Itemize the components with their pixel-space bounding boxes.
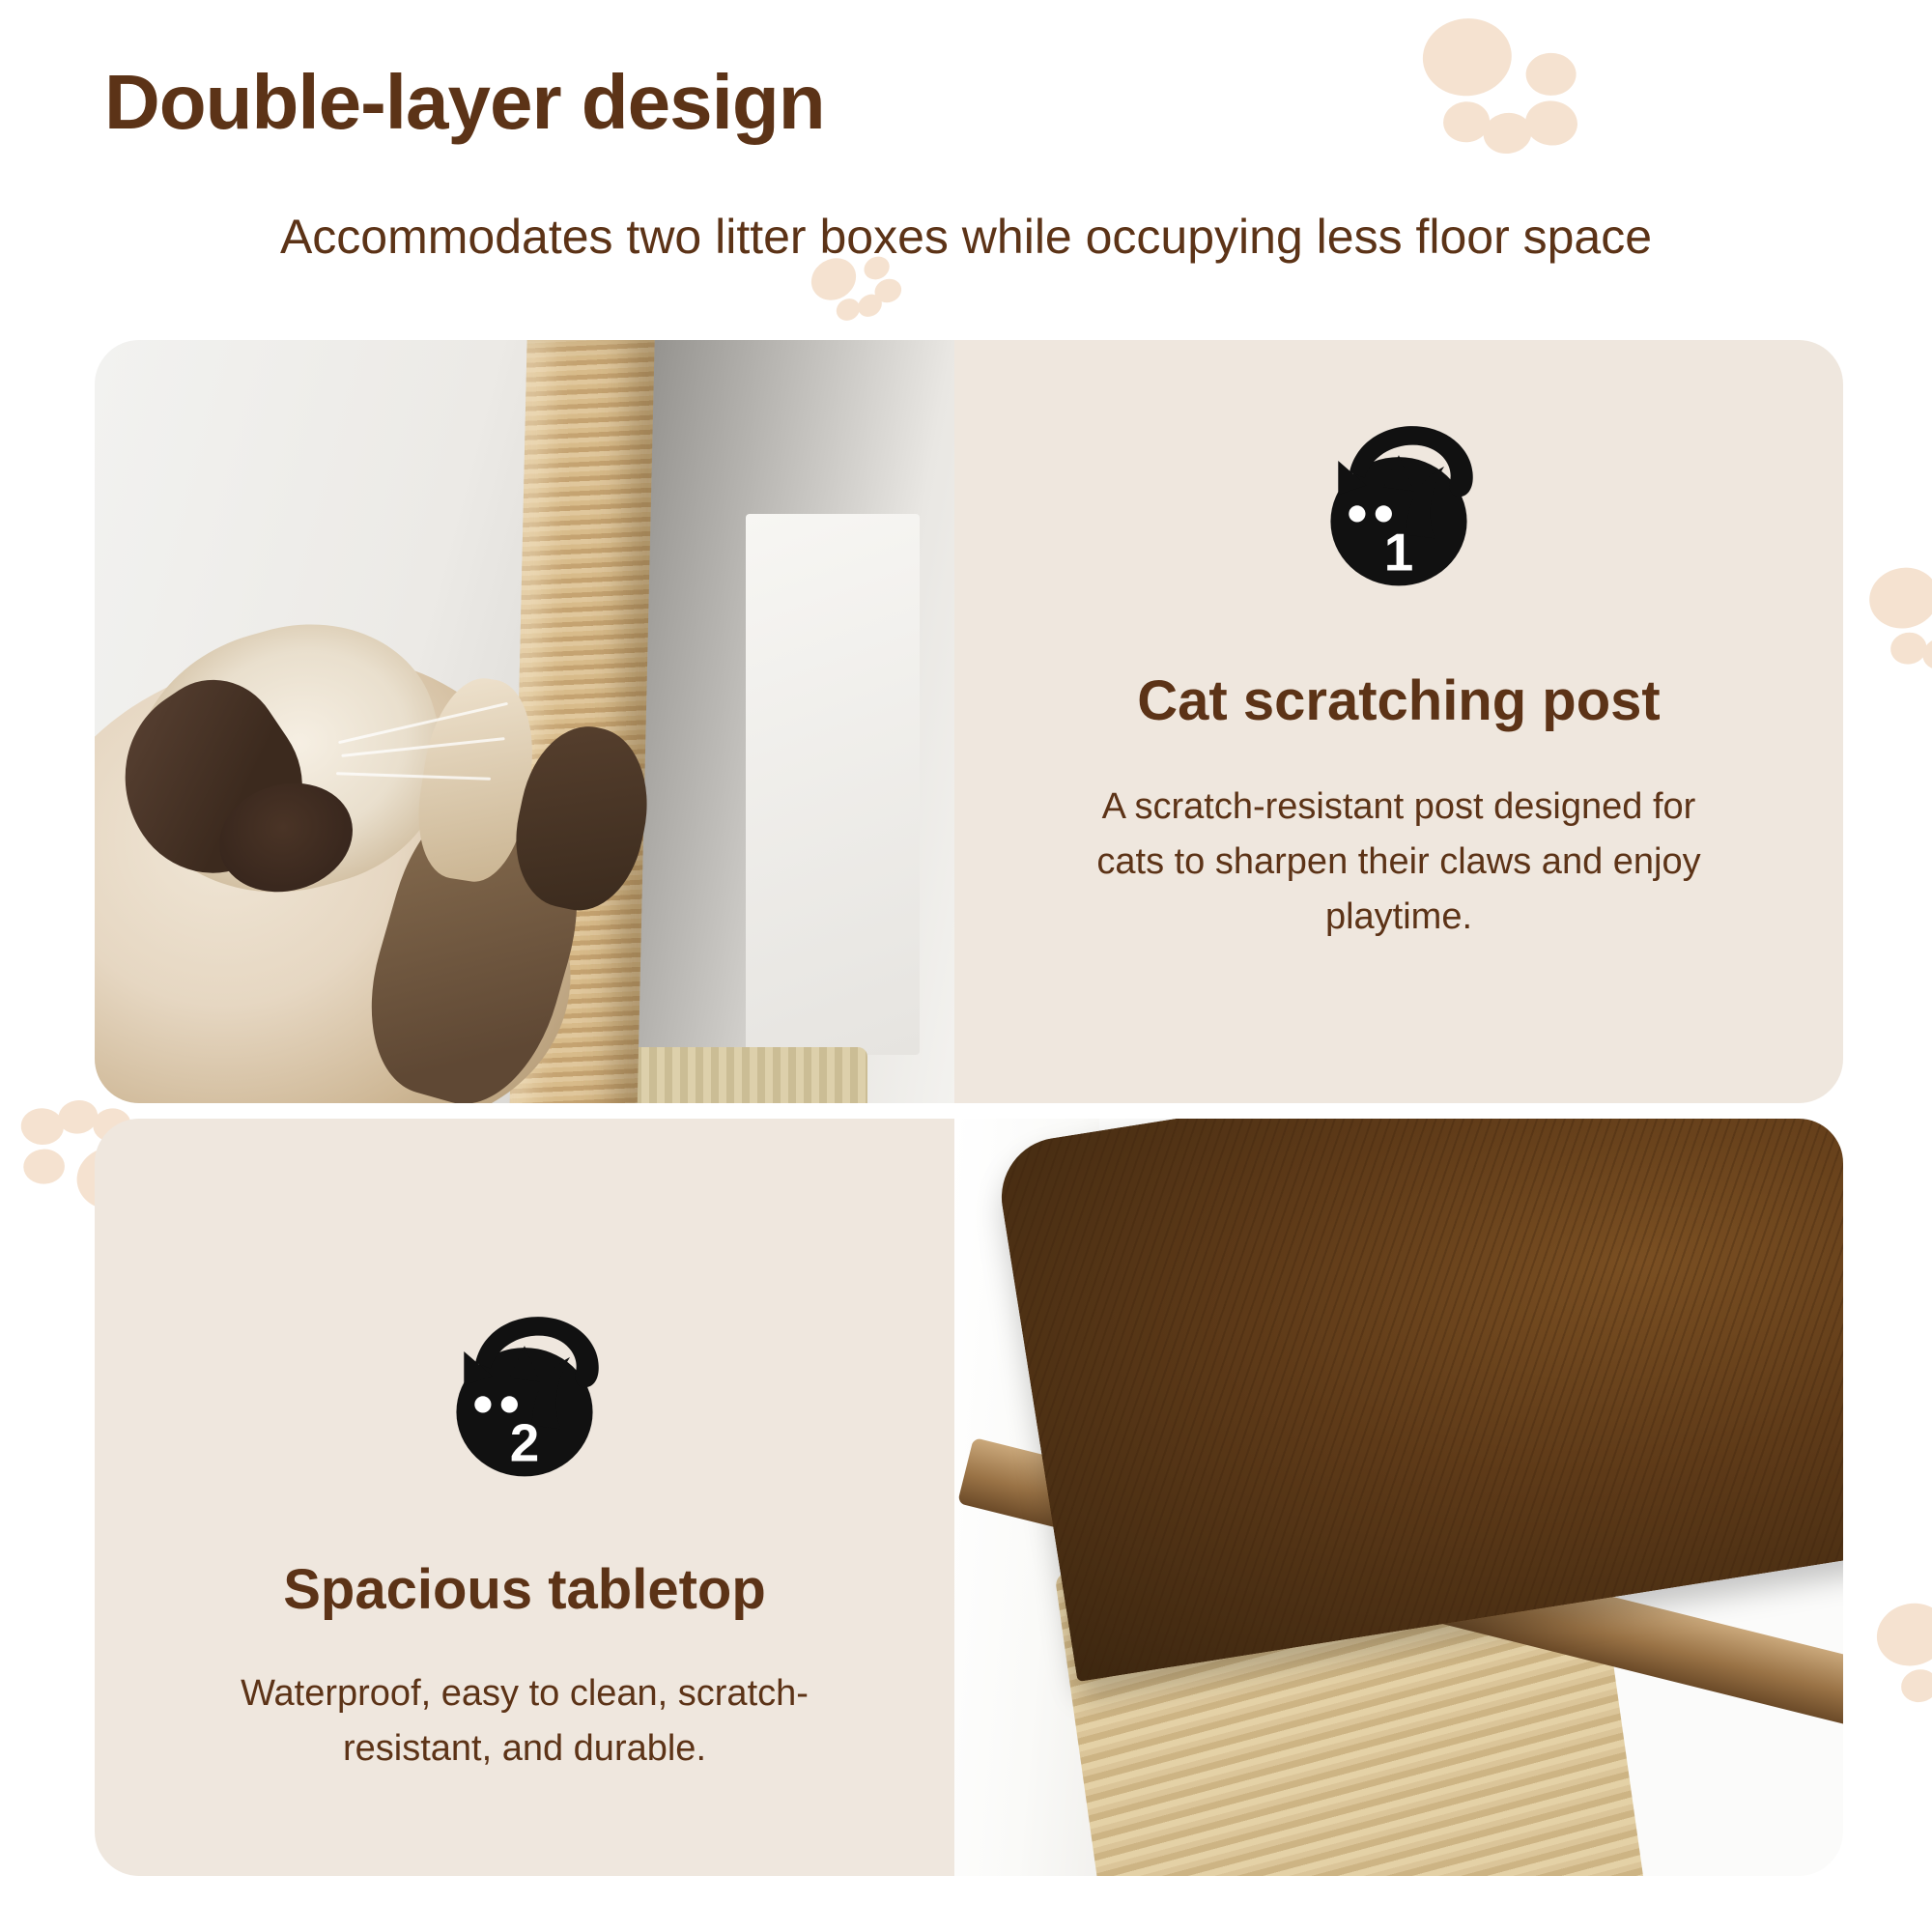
- photo-wood-slab: [993, 1119, 1843, 1682]
- feature-1-content: 1 Cat scratching post A scratch-resistan…: [954, 340, 1843, 1103]
- photo-wall-panel: [746, 514, 920, 1055]
- paw-print-icon: [1858, 1580, 1932, 1718]
- badge-number: 1: [1384, 523, 1414, 582]
- feature-2-description: Waterproof, easy to clean, scratch-resis…: [225, 1666, 824, 1776]
- page-title: Double-layer design: [104, 58, 825, 147]
- cat-badge-icon: 2: [430, 1306, 619, 1495]
- badge-number: 2: [510, 1413, 540, 1473]
- wooden-tabletop-photo: [954, 1119, 1843, 1876]
- paw-print-icon: [1847, 543, 1932, 683]
- page-subtitle: Accommodates two litter boxes while occu…: [0, 209, 1932, 265]
- cat-badge-icon: 1: [1304, 415, 1493, 605]
- photo-wood-scene: [954, 1119, 1843, 1876]
- feature-card-1: 1 Cat scratching post A scratch-resistan…: [954, 340, 1843, 1103]
- feature-2-content: 2 Spacious tabletop Waterproof, easy to …: [95, 1119, 954, 1876]
- photo-cat-scene: [95, 340, 954, 1103]
- feature-grid: 1 Cat scratching post A scratch-resistan…: [95, 340, 1843, 1876]
- cat-scratching-post-photo: [95, 340, 954, 1103]
- feature-2-title: Spacious tabletop: [283, 1557, 766, 1622]
- feature-1-description: A scratch-resistant post designed for ca…: [1080, 780, 1718, 945]
- feature-card-2: 2 Spacious tabletop Waterproof, easy to …: [95, 1119, 954, 1876]
- paw-print-icon: [1387, 0, 1606, 178]
- feature-1-title: Cat scratching post: [1137, 668, 1660, 733]
